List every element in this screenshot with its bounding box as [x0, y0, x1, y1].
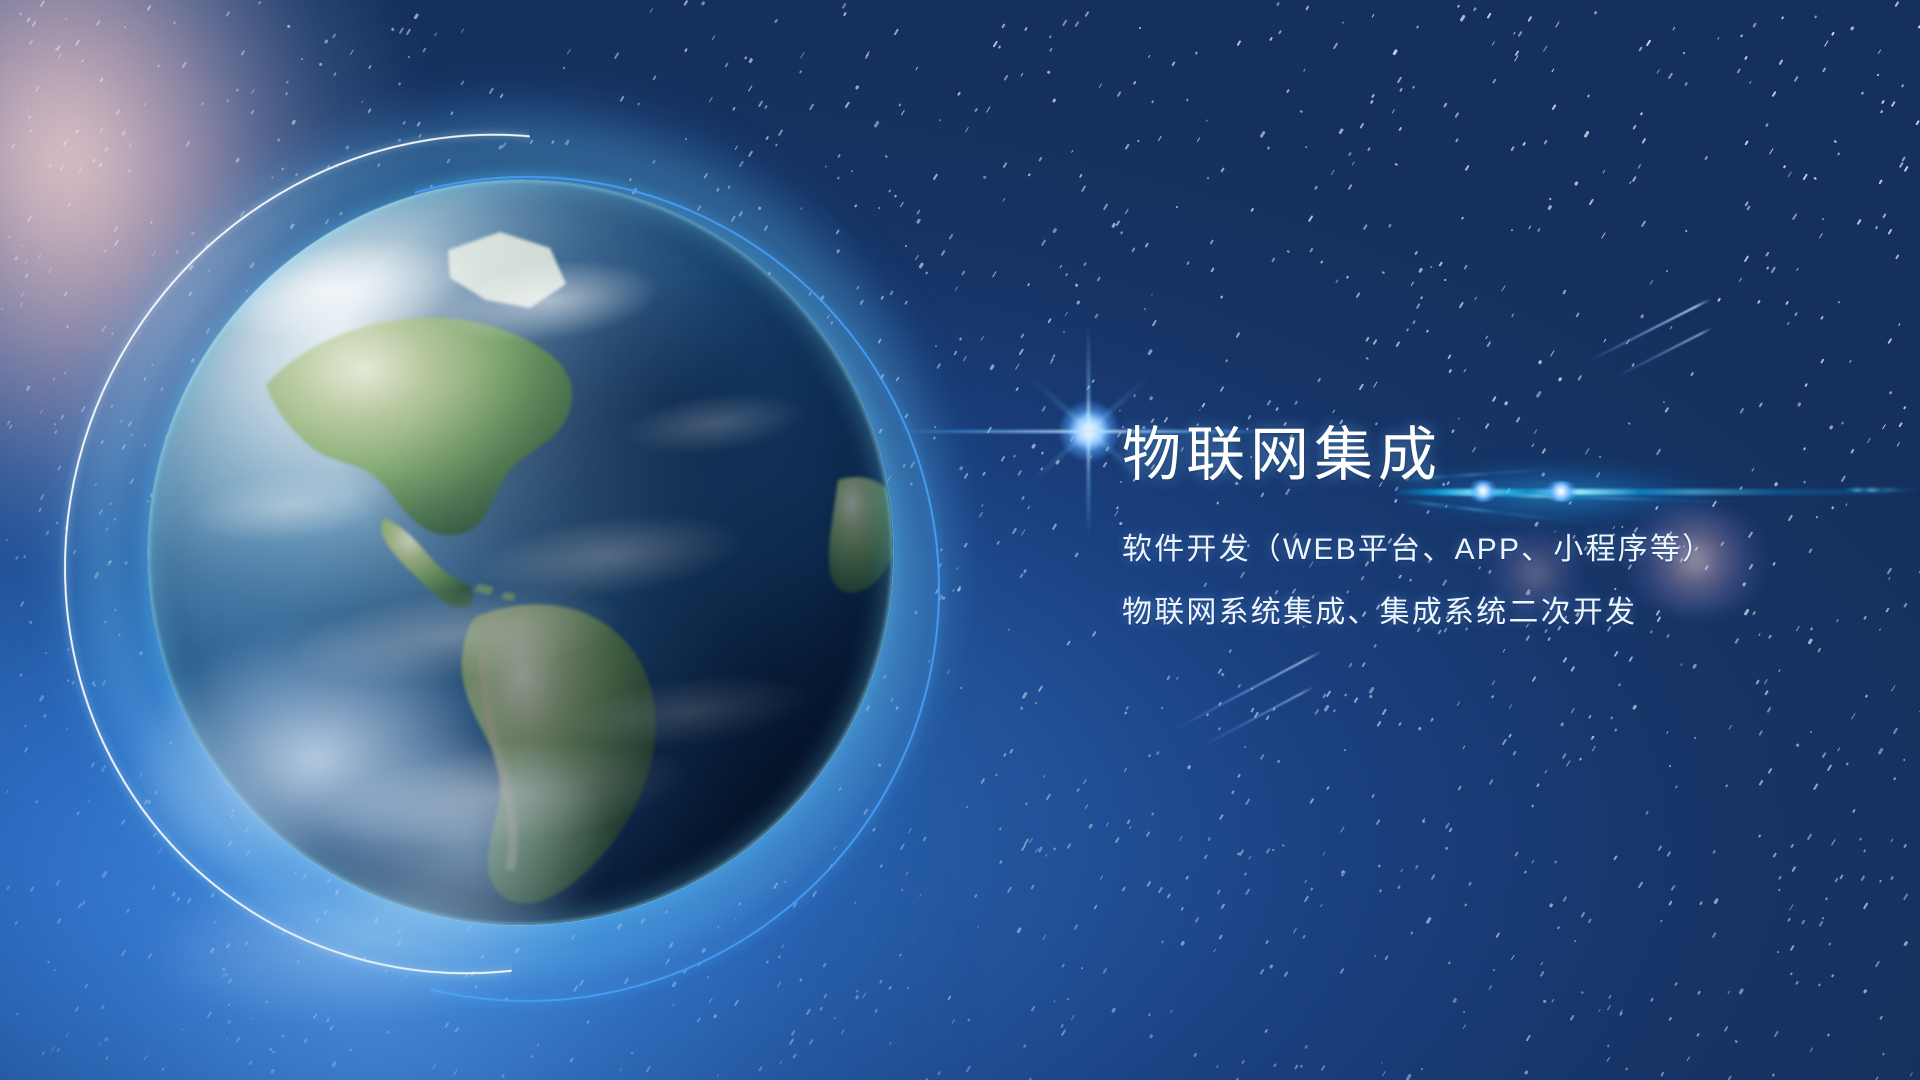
- banner-copy: 物联网集成 软件开发（WEB平台、APP、小程序等） 物联网系统集成、集成系统二…: [1122, 424, 1882, 487]
- page-title: 物联网集成: [1122, 424, 1882, 487]
- ice-mist-reflection: [19, 568, 700, 1063]
- subtitle-line-1: 软件开发（WEB平台、APP、小程序等）: [1122, 535, 1714, 565]
- hero-banner: 物联网集成 软件开发（WEB平台、APP、小程序等） 物联网系统集成、集成系统二…: [0, 0, 1920, 1080]
- subtitle-line-2: 物联网系统集成、集成系统二次开发: [1122, 598, 1637, 628]
